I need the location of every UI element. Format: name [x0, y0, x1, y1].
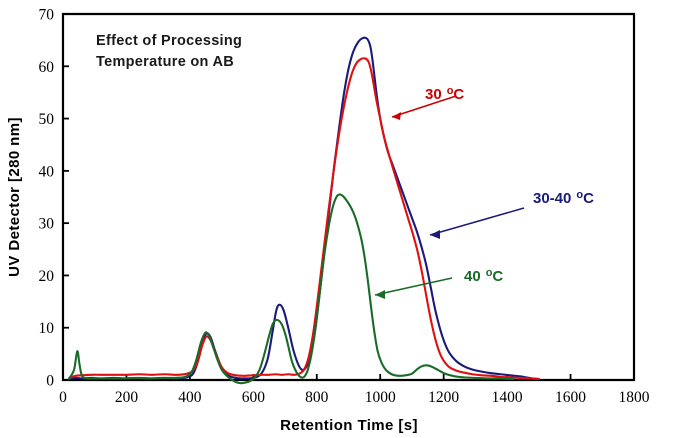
x-tick-label: 1800: [619, 389, 650, 406]
series-line-40-c: [69, 194, 513, 383]
y-tick-label: 20: [39, 268, 55, 285]
annotation-30c-arrow-line: [392, 96, 456, 117]
chart-title-line2: Temperature on AB: [96, 54, 234, 70]
y-axis-title-text: UV Detector [280 nm]: [6, 117, 23, 277]
x-tick-label: 1000: [365, 389, 396, 406]
y-tick-label: 60: [39, 59, 55, 76]
chromatogram-figure: 0102030405060700200400600800100012001400…: [0, 0, 673, 438]
y-tick-label: 50: [39, 111, 55, 128]
annotation-30-40c: 30-40oC: [430, 189, 594, 239]
x-tick-label: 0: [59, 389, 67, 406]
y-tick-label: 10: [39, 320, 55, 337]
y-tick-label: 40: [39, 163, 55, 180]
annotation-30-40c-arrow-line: [430, 208, 524, 235]
annotation-30c: 30oC: [392, 85, 464, 120]
annotations: 30oC 30-40oC 40oC: [375, 85, 594, 299]
x-axis-title-text: Retention Time [s]: [280, 417, 418, 434]
series-line-30-c: [69, 58, 538, 379]
annotation-30-40c-arrowhead: [430, 230, 440, 239]
x-axis-title: Retention Time [s]: [280, 417, 418, 434]
plot-svg: 0102030405060700200400600800100012001400…: [0, 0, 673, 438]
x-tick-label: 1600: [555, 389, 586, 406]
x-tick-label: 200: [115, 389, 139, 406]
annotation-40c-label: 40oC: [464, 267, 503, 285]
y-tick-label: 70: [39, 7, 55, 24]
data-series: [69, 38, 538, 384]
y-axis-title: UV Detector [280 nm]: [6, 117, 23, 277]
chart-title-line1: Effect of Processing: [96, 33, 242, 49]
annotation-40c-arrowhead: [375, 290, 385, 299]
x-tick-label: 400: [178, 389, 202, 406]
annotation-40c: 40oC: [375, 267, 503, 299]
series-line-30-40-c: [69, 38, 538, 379]
y-tick-label: 0: [46, 373, 54, 390]
chart-title: Effect of Processing Temperature on AB: [96, 33, 242, 70]
x-tick-label: 1400: [492, 389, 523, 406]
annotation-30-40c-label: 30-40oC: [533, 189, 594, 207]
x-tick-label: 600: [242, 389, 266, 406]
annotation-40c-arrow-line: [375, 278, 452, 295]
x-tick-label: 800: [305, 389, 329, 406]
y-tick-label: 30: [39, 216, 55, 233]
x-tick-label: 1200: [428, 389, 459, 406]
